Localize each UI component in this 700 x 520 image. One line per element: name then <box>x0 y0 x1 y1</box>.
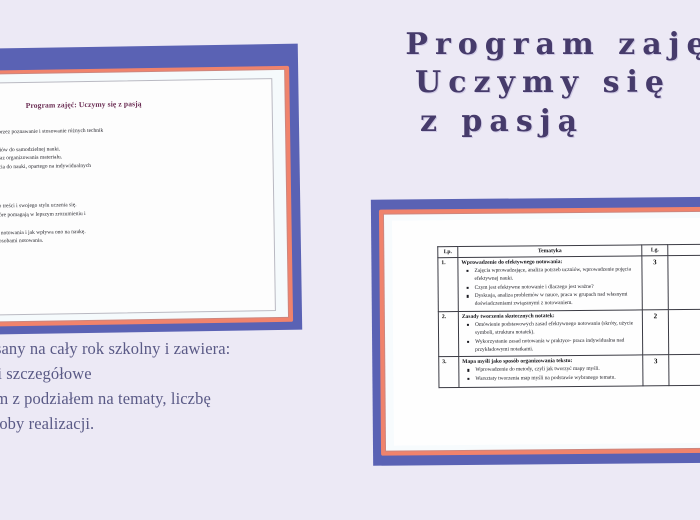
left-document-title: Program zajęć: Uczymy się z pasją <box>0 97 262 112</box>
slide-canvas: Program zajęć: Uczymy się z pasją ne: wi… <box>0 0 700 520</box>
row-number: 1. <box>438 258 458 312</box>
left-panel-sheet: Program zajęć: Uczymy się z pasją ne: wi… <box>0 70 288 323</box>
slide-title: Program zaję Uczymy się z pasją <box>360 26 700 141</box>
lead-line: am rozpisany na cały rok szkolny i zawie… <box>0 336 356 361</box>
table-header-sposob: Sposób r <box>668 244 700 256</box>
row-number: 2. <box>438 312 458 358</box>
row-topic-cell: Mapa myśli jako sposób organizowania tek… <box>459 355 643 387</box>
table-header-lp: Lp. <box>438 247 458 258</box>
right-document-panel: Lp. Tematyka Lg. Sposób r 1. Wprowadzeni… <box>371 196 700 466</box>
method-line: mapa <box>672 365 700 374</box>
row-hours: 3 <box>642 256 668 310</box>
left-document-page: Program zajęć: Uczymy się z pasją ne: wi… <box>0 78 276 317</box>
row-method-cell: ćwiczenia p mapa filmy instr <box>669 354 700 385</box>
program-table: Lp. Tematyka Lg. Sposób r 1. Wprowadzeni… <box>437 243 700 387</box>
right-document-page: Lp. Tematyka Lg. Sposób r 1. Wprowadzeni… <box>392 217 700 445</box>
slide-title-line-1: Program zaję <box>378 26 700 64</box>
method-line: ankieta na <box>671 257 700 266</box>
method-line: filmy instr <box>672 328 700 337</box>
lead-paragraph: am rozpisany na cały rok szkolny i zawie… <box>0 336 356 461</box>
table-row: 1. Wprowadzenie do efektywnego notowania… <box>438 255 700 312</box>
row-topic-cell: Zasady tworzenia skutecznych notatek: Om… <box>458 310 642 357</box>
row-topic-bullets: Zajęcia wprowadzające, analiza potrzeb u… <box>461 265 638 308</box>
table-header-lg: Lg. <box>642 245 668 256</box>
row-method-cell: ankieta na burza m wars dysk kula in <box>668 255 700 310</box>
bullet-item: Warsztaty tworzenia map myśli na podstaw… <box>475 374 639 384</box>
table-row: 3. Mapa myśli jako sposób organizowania … <box>439 354 700 387</box>
right-panel-sheet: Lp. Tematyka Lg. Sposób r 1. Wprowadzeni… <box>384 211 700 450</box>
row-topic-cell: Wprowadzenie do efektywnego notowania: Z… <box>458 256 642 312</box>
bullet-item: Zajęcia wprowadzające, analiza potrzeb u… <box>474 265 638 283</box>
bullet-item: Omówienie podstawowych zasad efektywnego… <box>475 319 639 337</box>
row-number: 3. <box>439 357 459 387</box>
method-line: wars <box>672 274 700 283</box>
slide-title-line-2: Uczymy się <box>346 64 700 102</box>
table-row: 2. Zasady tworzenia skutecznych notatek:… <box>438 309 700 357</box>
row-hours: 2 <box>642 310 668 356</box>
left-document-panel: Program zajęć: Uczymy się z pasją ne: wi… <box>0 44 302 337</box>
slide-title-line-3: z pasją <box>264 103 700 141</box>
bullet-item: Dyskusja, analiza problemów w nauce, pra… <box>475 291 639 309</box>
row-topic-bullets: Wprowadzenie do metody, czyli jak tworzy… <box>462 365 639 383</box>
method-line: wars <box>672 320 700 329</box>
row-topic-bullets: Omówienie podstawowych zasad efektywnego… <box>462 319 639 353</box>
left-document-block-2: i rozumie różne techniki notowania. bier… <box>0 190 264 248</box>
method-line: kula in <box>672 291 700 300</box>
method-line: burza m <box>671 266 700 275</box>
method-line: ćwiczenia p <box>672 357 700 366</box>
lead-line: monogram z podziałem na tematy, liczbę <box>0 386 356 411</box>
left-document-block-1: wijanie umiejętności efektywnej nauki po… <box>0 124 263 182</box>
method-line: filmy instr <box>672 374 700 383</box>
row-hours: 3 <box>643 355 669 385</box>
lead-line: e ogólne i szczegółowe <box>0 361 356 386</box>
method-line: dysk <box>672 283 700 292</box>
bullet-item: Wykorzystanie zasad notowania w praktyce… <box>475 336 639 354</box>
row-method-cell: ćwiczenia p wars filmy instr <box>668 309 700 355</box>
method-line: ćwiczenia p <box>672 311 700 320</box>
lead-line: zin i sposoby realizacji. <box>0 411 356 436</box>
lead-line: luacja <box>0 436 356 461</box>
